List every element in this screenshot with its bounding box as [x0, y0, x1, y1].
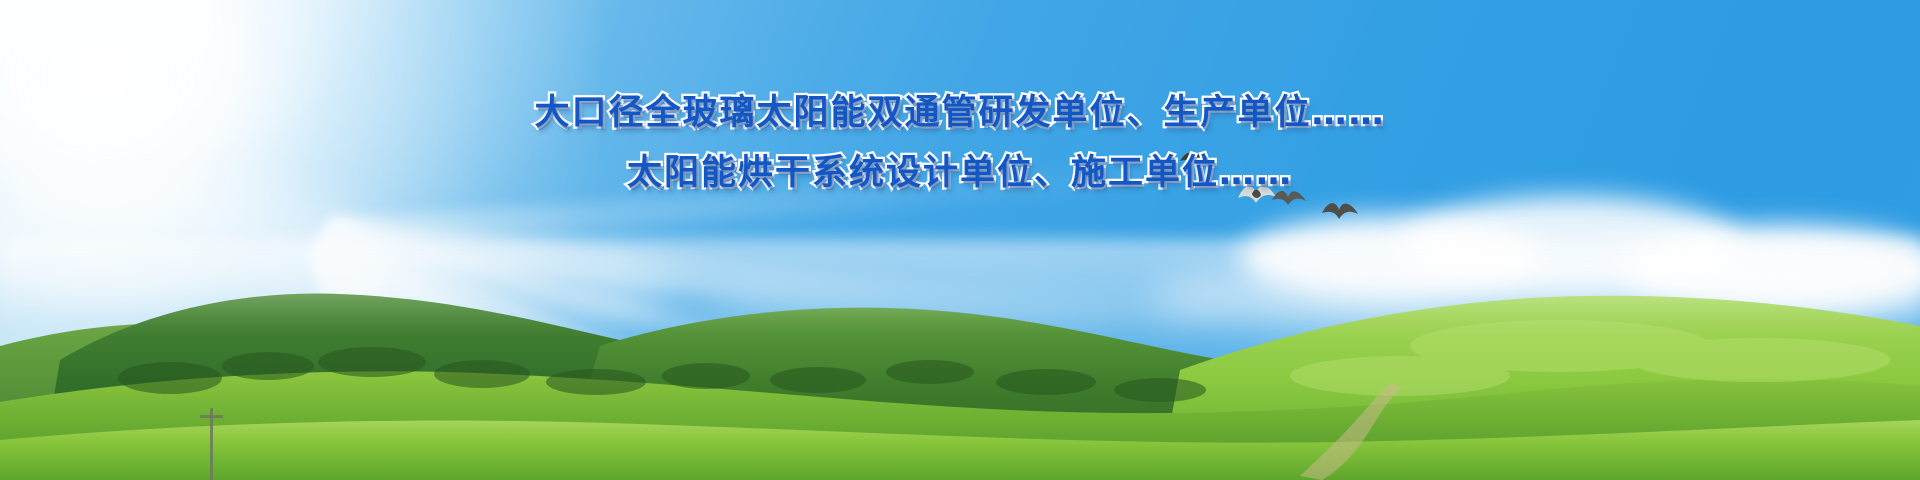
utility-pole-crossbar: [200, 415, 223, 418]
bird-icon-3: [1270, 184, 1308, 212]
utility-pole: [210, 408, 213, 480]
landscape: [0, 250, 1920, 480]
bird-icon-4: [1320, 196, 1360, 226]
bird-icon-1: [1178, 148, 1214, 174]
promo-banner: 大口径全玻璃太阳能双通管研发单位、生产单位…… 太阳能烘干系统设计单位、施工单位…: [0, 0, 1920, 480]
